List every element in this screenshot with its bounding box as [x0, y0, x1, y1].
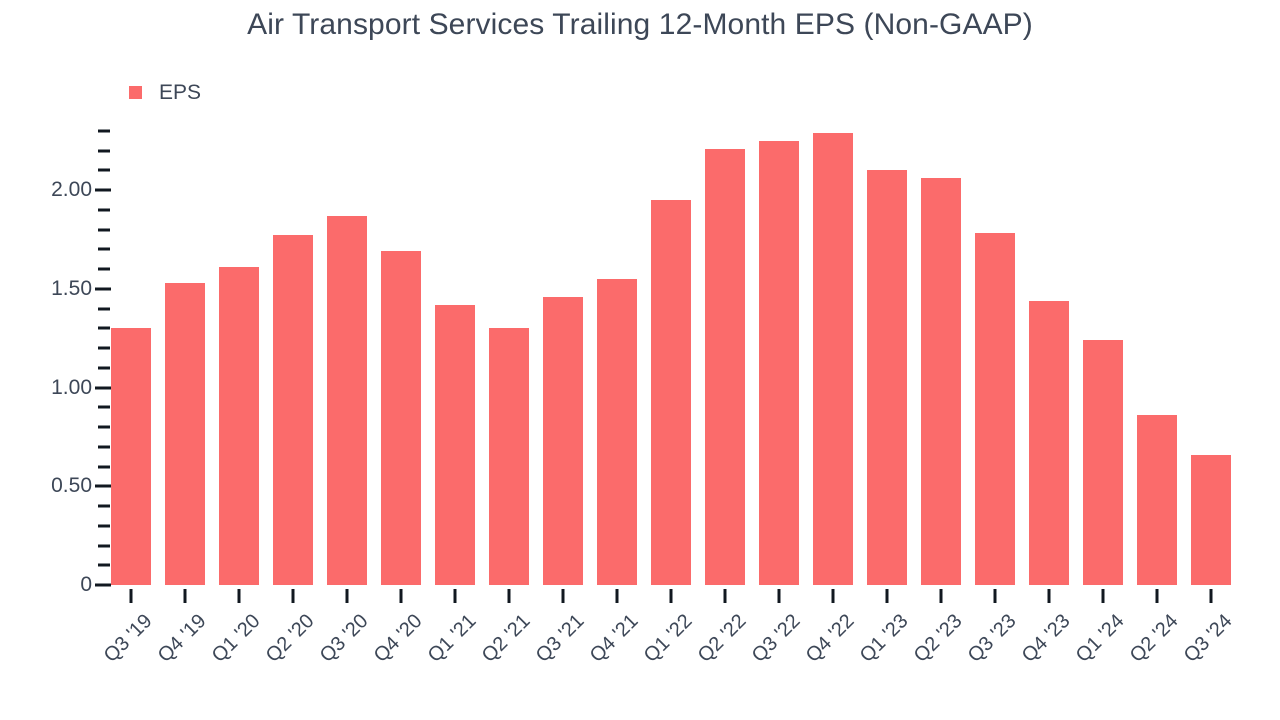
- y-axis-minor-tick: [98, 208, 110, 211]
- bar[interactable]: [435, 305, 475, 585]
- y-axis-minor-tick: [98, 445, 110, 448]
- x-axis-tick: [778, 589, 781, 603]
- bar[interactable]: [705, 149, 745, 585]
- bar[interactable]: [597, 279, 637, 585]
- x-axis-tick: [670, 589, 673, 603]
- bar[interactable]: [1137, 415, 1177, 585]
- x-axis-label: Q4 '19: [154, 610, 211, 667]
- bar[interactable]: [759, 141, 799, 585]
- y-axis-major-tick: [95, 189, 111, 192]
- x-axis-label: Q4 '20: [370, 610, 427, 667]
- x-axis-label: Q4 '22: [802, 610, 859, 667]
- x-axis-label: Q2 '24: [1126, 610, 1183, 667]
- bar[interactable]: [813, 133, 853, 585]
- y-axis-minor-tick: [98, 544, 110, 547]
- bar[interactable]: [381, 251, 421, 585]
- x-axis-tick: [292, 589, 295, 603]
- x-axis-tick: [400, 589, 403, 603]
- x-axis-label: Q3 '19: [100, 610, 157, 667]
- y-axis-major-tick: [95, 485, 111, 488]
- y-axis-major-tick: [95, 386, 111, 389]
- y-axis-label: 1.50: [20, 277, 92, 301]
- bar[interactable]: [273, 235, 313, 585]
- x-axis-tick: [346, 589, 349, 603]
- x-axis-tick: [1156, 589, 1159, 603]
- x-axis-label: Q4 '23: [1018, 610, 1075, 667]
- y-axis-minor-tick: [98, 465, 110, 468]
- x-axis-label: Q4 '21: [586, 610, 643, 667]
- x-axis-tick: [454, 589, 457, 603]
- x-axis-label: Q2 '20: [262, 610, 319, 667]
- y-axis-minor-tick: [98, 248, 110, 251]
- y-axis-minor-tick: [98, 268, 110, 271]
- y-axis-major-tick: [95, 287, 111, 290]
- y-axis-minor-tick: [98, 564, 110, 567]
- y-axis-label: 0.50: [20, 474, 92, 498]
- bar[interactable]: [1191, 455, 1231, 585]
- bar[interactable]: [165, 283, 205, 585]
- x-axis-label: Q1 '22: [640, 610, 697, 667]
- bar[interactable]: [489, 328, 529, 585]
- bar[interactable]: [975, 233, 1015, 585]
- bar[interactable]: [867, 170, 907, 585]
- x-axis-label: Q3 '21: [532, 610, 589, 667]
- x-axis-label: Q3 '22: [748, 610, 805, 667]
- x-axis-tick: [832, 589, 835, 603]
- x-axis-tick: [940, 589, 943, 603]
- x-axis-label: Q1 '20: [208, 610, 265, 667]
- bar[interactable]: [921, 178, 961, 585]
- y-axis-label: 0: [20, 573, 92, 597]
- y-axis-minor-tick: [98, 327, 110, 330]
- bar[interactable]: [1083, 340, 1123, 585]
- chart-container: Air Transport Services Trailing 12-Month…: [0, 0, 1280, 720]
- x-axis-tick: [1102, 589, 1105, 603]
- x-axis-tick: [724, 589, 727, 603]
- bar[interactable]: [1029, 301, 1069, 585]
- x-axis-label: Q2 '21: [478, 610, 535, 667]
- x-axis-tick: [238, 589, 241, 603]
- x-axis-tick: [616, 589, 619, 603]
- x-axis-tick: [886, 589, 889, 603]
- x-axis-tick: [1048, 589, 1051, 603]
- y-axis-label: 1.00: [20, 376, 92, 400]
- y-axis-minor-tick: [98, 366, 110, 369]
- x-axis-label: Q2 '22: [694, 610, 751, 667]
- y-axis-minor-tick: [98, 149, 110, 152]
- x-axis-tick: [184, 589, 187, 603]
- y-axis-minor-tick: [98, 426, 110, 429]
- y-axis-minor-tick: [98, 524, 110, 527]
- x-axis-label: Q1 '24: [1072, 610, 1129, 667]
- y-axis-minor-tick: [98, 347, 110, 350]
- bar[interactable]: [111, 328, 151, 585]
- x-axis-label: Q2 '23: [910, 610, 967, 667]
- x-axis-tick: [994, 589, 997, 603]
- y-axis-minor-tick: [98, 406, 110, 409]
- x-axis-label: Q3 '20: [316, 610, 373, 667]
- y-axis-minor-tick: [98, 307, 110, 310]
- y-axis-minor-tick: [98, 228, 110, 231]
- bar[interactable]: [327, 216, 367, 585]
- y-axis-minor-tick: [98, 129, 110, 132]
- x-axis-label: Q3 '24: [1180, 610, 1237, 667]
- bar[interactable]: [543, 297, 583, 585]
- x-axis-tick: [508, 589, 511, 603]
- y-axis-major-tick: [95, 584, 111, 587]
- x-axis-tick: [562, 589, 565, 603]
- x-axis-tick: [130, 589, 133, 603]
- bar[interactable]: [219, 267, 259, 585]
- x-axis-label: Q1 '21: [424, 610, 481, 667]
- y-axis-minor-tick: [98, 169, 110, 172]
- y-axis-label: 2.00: [20, 178, 92, 202]
- x-axis-tick: [1210, 589, 1213, 603]
- y-axis-minor-tick: [98, 505, 110, 508]
- x-axis-label: Q3 '23: [964, 610, 1021, 667]
- bar[interactable]: [651, 200, 691, 585]
- x-axis-label: Q1 '23: [856, 610, 913, 667]
- plot-area: 00.501.001.502.00Q3 '19Q4 '19Q1 '20Q2 '2…: [0, 0, 1280, 720]
